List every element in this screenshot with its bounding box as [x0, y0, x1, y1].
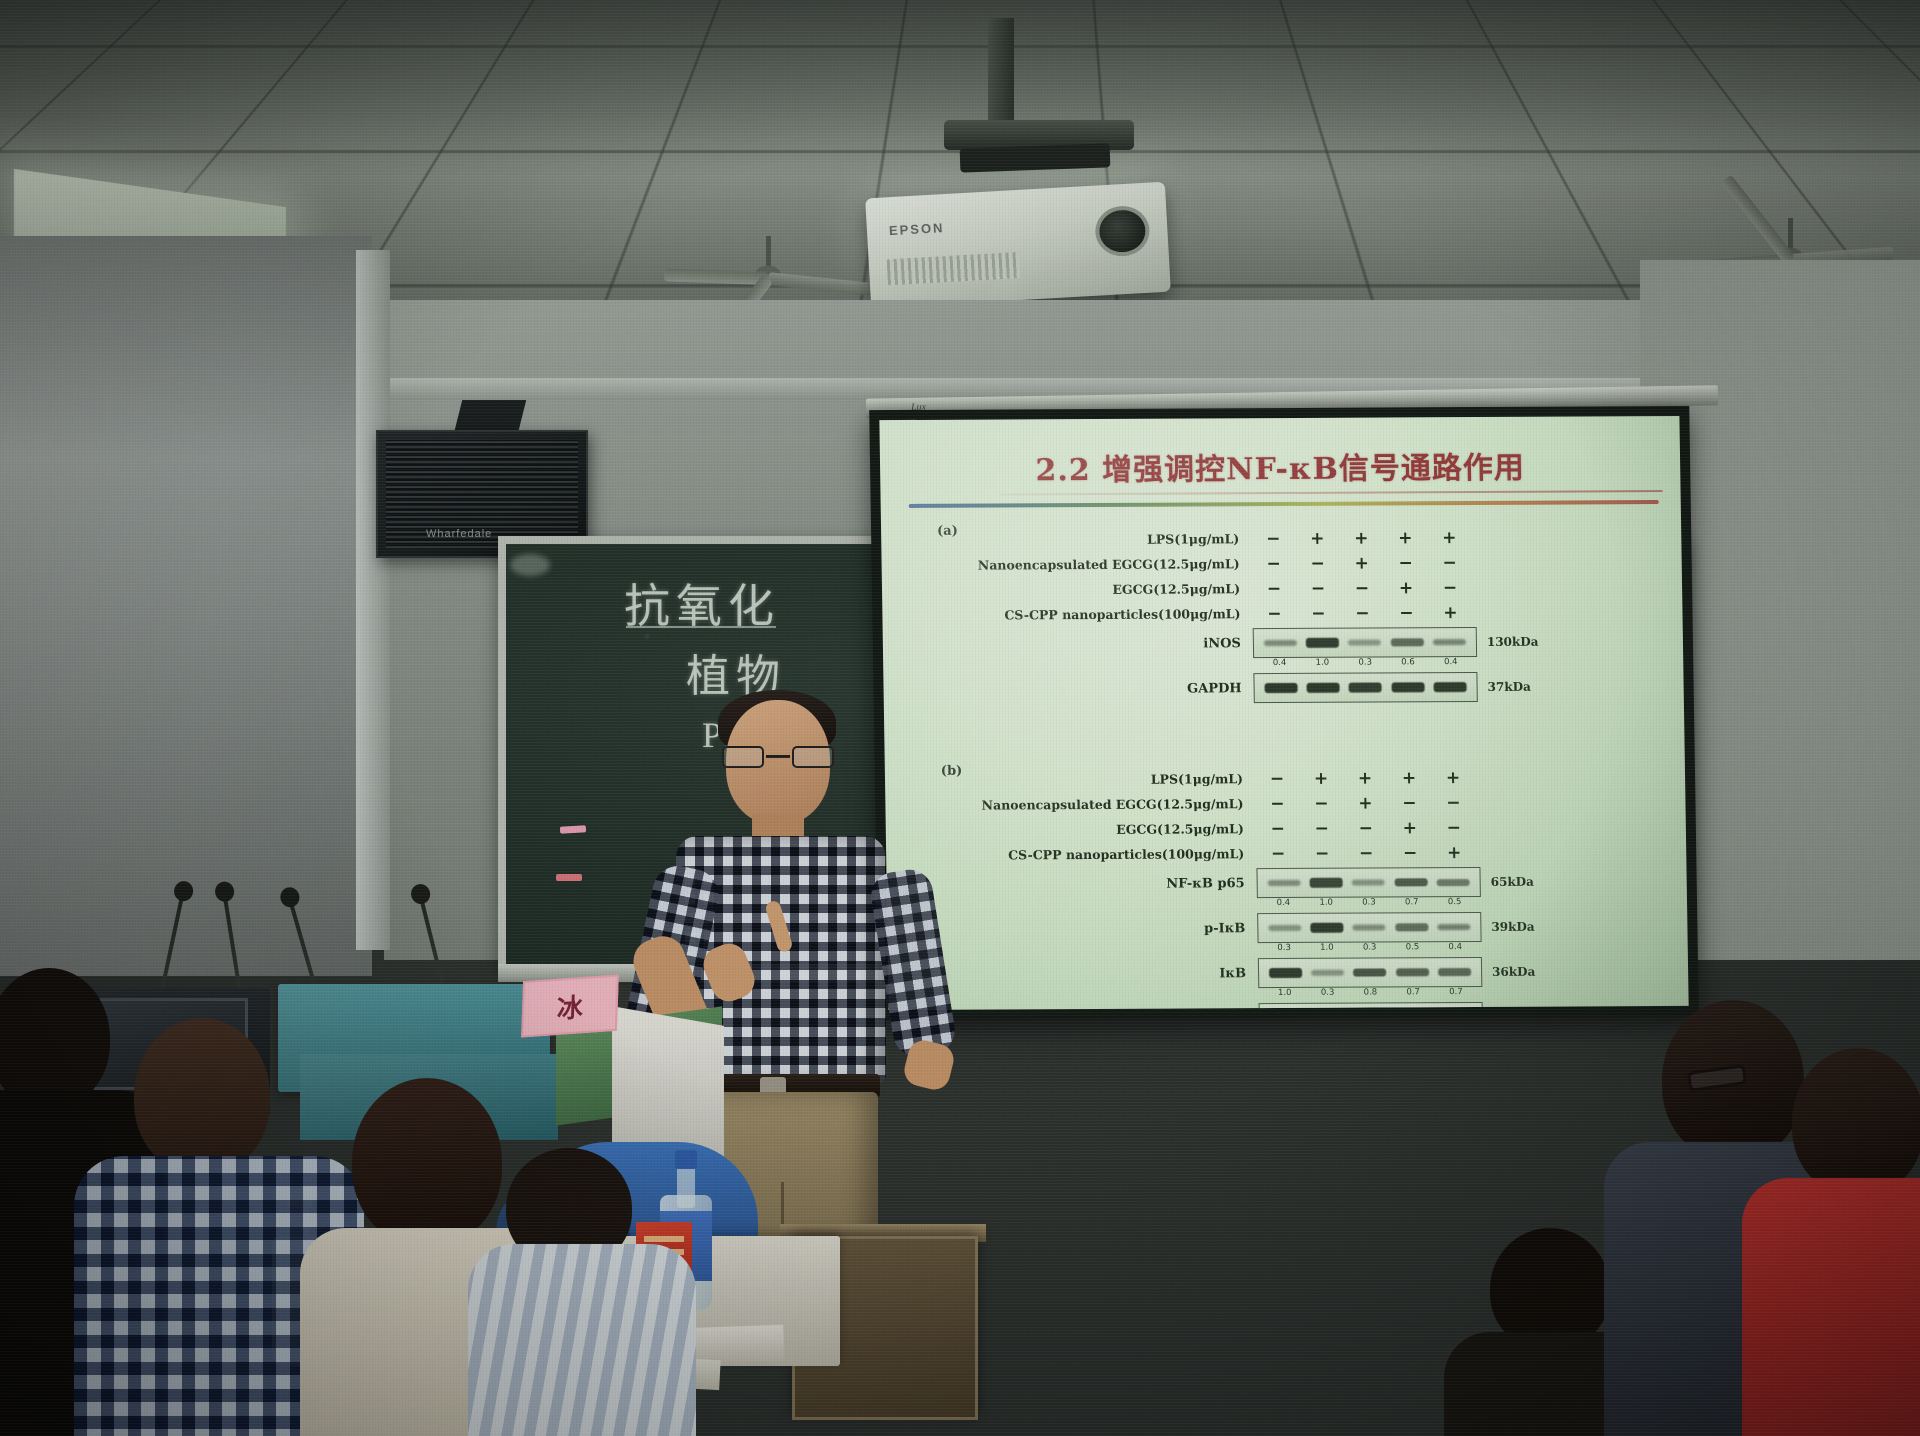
densitometry-value: 0.3	[1349, 657, 1382, 670]
condition-mark: −	[1255, 768, 1299, 788]
condition-mark: +	[1427, 528, 1471, 548]
condition-label: Nanoencapsulated EGCG(12.5μg/mL)	[882, 556, 1252, 573]
condition-mark: −	[1252, 578, 1296, 598]
condition-mark: −	[1296, 603, 1340, 623]
condition-mark: −	[1256, 843, 1300, 863]
projector-ceiling-mount	[988, 18, 1014, 122]
blot-band	[1269, 968, 1302, 978]
audience-head	[134, 1018, 270, 1174]
blot-band	[1310, 878, 1343, 888]
condition-marks: −−−−+	[1256, 842, 1476, 863]
densitometry-value: 0.7	[1395, 897, 1428, 910]
condition-mark: −	[1344, 818, 1388, 838]
densitometry-value: 0.4	[1434, 657, 1467, 670]
condition-mark: −	[1251, 553, 1295, 573]
densitometry-row: 0.41.00.30.70.5	[1257, 897, 1481, 911]
condition-marks: −++++	[1255, 767, 1475, 788]
projection-screen-border: 2.2 增强调控NF-κB信号通路作用 (a) LPS(1μg/mL)−++++…	[869, 406, 1699, 1020]
blot-molecular-weight: 65kDa	[1481, 875, 1534, 889]
condition-row: CS-CPP nanoparticles(100μg/mL)−−−−+	[886, 839, 1686, 868]
panel-a-blots: iNOS130kDa0.41.00.30.60.4GAPDH37kDa	[883, 626, 1684, 705]
condition-mark: +	[1387, 768, 1431, 788]
condition-mark: −	[1255, 793, 1299, 813]
densitometry-value: 0.3	[1311, 988, 1344, 1001]
condition-mark: −	[1251, 528, 1295, 548]
blot-band	[1306, 638, 1339, 648]
blot-row: iNOS130kDa	[883, 626, 1684, 660]
audience-torso	[468, 1244, 696, 1436]
fan-blade	[767, 272, 872, 296]
condition-mark: −	[1256, 818, 1300, 838]
densitometry-value: 0.4	[1267, 898, 1300, 911]
chalk-stick	[560, 825, 586, 833]
fan-blade	[664, 268, 768, 285]
slide-title: 2.2 增强调控NF-κB信号通路作用	[880, 442, 1681, 490]
pink-sign: 冰	[521, 975, 619, 1038]
densitometry-value: 0.3	[1353, 942, 1386, 955]
condition-mark: +	[1343, 793, 1387, 813]
blot-name: p-IκB	[887, 921, 1257, 938]
blot-band	[1434, 682, 1467, 692]
condition-mark: +	[1339, 553, 1383, 573]
chalk-underline	[626, 626, 776, 628]
fan-rod	[1788, 218, 1793, 252]
condition-mark: −	[1428, 578, 1472, 598]
condition-mark: −	[1299, 793, 1343, 813]
blot-row: p-IκB39kDa	[887, 911, 1688, 945]
condition-mark: −	[1431, 792, 1475, 812]
condition-marks: −−+−−	[1255, 792, 1475, 813]
condition-mark: −	[1388, 843, 1432, 863]
condition-mark: −	[1300, 843, 1344, 863]
densitometry-value: 0.5	[1438, 897, 1471, 910]
densitometry-value: 0.6	[1391, 657, 1424, 670]
blot-lane-box	[1257, 912, 1481, 943]
blot-lane-box	[1253, 672, 1477, 703]
condition-mark: −	[1252, 603, 1296, 623]
densitometry-value: 1.0	[1310, 898, 1343, 911]
blot-lane-box	[1253, 627, 1477, 658]
slide-panel-b: (b) LPS(1μg/mL)−++++Nanoencapsulated EGC…	[885, 764, 1689, 1010]
blot-band	[1433, 639, 1466, 646]
condition-mark: −	[1296, 578, 1340, 598]
blot-band	[1396, 968, 1429, 976]
blot-band	[1391, 682, 1424, 692]
blot-lane-box	[1258, 957, 1482, 988]
blot-lane-box	[1259, 1002, 1483, 1010]
blot-band	[1307, 683, 1340, 693]
condition-row: CS-CPP nanoparticles(100μg/mL)−−−−+	[882, 599, 1682, 628]
densitometry-value: 0.5	[1396, 942, 1429, 955]
blot-band	[1264, 683, 1297, 693]
densitometry-value: 0.8	[1354, 987, 1387, 1000]
blot-band	[1353, 924, 1386, 930]
blot-band	[1395, 923, 1428, 931]
condition-label: EGCG(12.5μg/mL)	[886, 821, 1256, 838]
condition-marks: −−−+−	[1256, 817, 1476, 838]
blot-band	[1348, 640, 1381, 646]
blot-band	[1311, 970, 1344, 976]
panel-b-blots: NF-κB p6565kDa0.41.00.30.70.5p-IκB39kDa0…	[886, 866, 1688, 1010]
wall-left-shading	[0, 236, 372, 976]
fan-rod	[766, 236, 771, 270]
condition-label: EGCG(12.5μg/mL)	[882, 581, 1252, 598]
condition-mark: +	[1428, 603, 1472, 623]
densitometry-row: 1.00.30.80.70.7	[1258, 987, 1482, 1001]
condition-mark: −	[1387, 793, 1431, 813]
condition-label: CS-CPP nanoparticles(100μg/mL)	[882, 606, 1252, 623]
blot-molecular-weight: 37kDa	[1478, 680, 1531, 694]
blot-band	[1438, 968, 1471, 976]
condition-mark: −	[1428, 553, 1472, 573]
densitometry-value: 0.7	[1439, 987, 1472, 1000]
densitometry-value: 1.0	[1310, 943, 1343, 956]
condition-mark: +	[1299, 768, 1343, 788]
blot-row: GAPDH37kDa	[883, 671, 1684, 705]
bottle-neck	[677, 1166, 696, 1208]
blot-molecular-weight: 36kDa	[1482, 965, 1535, 979]
blot-molecular-weight: 39kDa	[1481, 920, 1534, 934]
blot-row: NF-κB p6565kDa	[886, 866, 1687, 900]
blot-row: IκB36kDa	[888, 956, 1689, 990]
blot-row: GAPDH37kDa	[889, 1001, 1689, 1010]
wall-column	[356, 250, 390, 950]
condition-marks: −−+−−	[1251, 553, 1471, 574]
panel-a-tag: (a)	[937, 524, 958, 539]
condition-mark: −	[1344, 843, 1388, 863]
densitometry-row: 0.41.00.30.60.4	[1253, 657, 1477, 671]
blot-band	[1437, 879, 1470, 886]
blot-band	[1310, 923, 1343, 933]
condition-marks: −−−−+	[1252, 603, 1472, 624]
speaker-brand-label: Wharfedale	[426, 528, 492, 540]
audience-head	[1792, 1048, 1920, 1196]
condition-mark: −	[1383, 553, 1427, 573]
audience-torso	[1742, 1178, 1920, 1436]
blot-lane-box	[1256, 867, 1480, 898]
condition-mark: −	[1340, 603, 1384, 623]
slide-title-rule	[909, 500, 1659, 508]
blot-band	[1267, 880, 1300, 886]
condition-mark: +	[1295, 528, 1339, 548]
chalk-stick	[556, 874, 582, 881]
blot-molecular-weight: 130kDa	[1477, 635, 1539, 649]
densitometry-value: 0.4	[1263, 658, 1296, 671]
condition-marks: −++++	[1251, 528, 1471, 549]
audience-member-7	[1762, 1048, 1920, 1436]
condition-mark: +	[1383, 528, 1427, 548]
blot-band	[1349, 683, 1382, 693]
blot-band	[1352, 880, 1385, 886]
blot-band	[1394, 878, 1427, 887]
chalk-smudge	[510, 554, 550, 576]
panel-a-conditions: LPS(1μg/mL)−++++Nanoencapsulated EGCG(12…	[881, 524, 1683, 628]
densitometry-row: 0.31.00.30.50.4	[1258, 942, 1482, 956]
condition-label: CS-CPP nanoparticles(100μg/mL)	[886, 846, 1256, 863]
densitometry-value: 1.0	[1268, 988, 1301, 1001]
slide-title-rule-thin	[1001, 490, 1663, 495]
panel-b-tag: (b)	[941, 764, 963, 779]
condition-mark: +	[1432, 842, 1476, 862]
blot-name: NF-κB p65	[887, 876, 1257, 893]
condition-mark: −	[1340, 578, 1384, 598]
condition-mark: +	[1388, 818, 1432, 838]
condition-label: Nanoencapsulated EGCG(12.5μg/mL)	[885, 796, 1255, 813]
densitometry-value: 1.0	[1306, 658, 1339, 671]
densitometry-value: 0.4	[1439, 942, 1472, 955]
panel-b-conditions: LPS(1μg/mL)−++++Nanoencapsulated EGCG(12…	[885, 764, 1687, 868]
condition-mark: +	[1384, 578, 1428, 598]
blot-band	[1391, 638, 1424, 646]
condition-mark: −	[1300, 818, 1344, 838]
slide-panel-a: (a) LPS(1μg/mL)−++++Nanoencapsulated EGC…	[881, 524, 1684, 705]
blot-band	[1438, 924, 1471, 931]
densitometry-value: 0.3	[1268, 943, 1301, 956]
blot-band	[1264, 640, 1297, 646]
condition-marks: −−−+−	[1252, 578, 1472, 599]
blot-band	[1353, 968, 1386, 977]
condition-mark: −	[1432, 817, 1476, 837]
projection-screen: 2.2 增强调控NF-κB信号通路作用 (a) LPS(1μg/mL)−++++…	[879, 416, 1688, 1010]
presenter-glasses	[722, 746, 834, 770]
densitometry-value: 0.3	[1352, 897, 1385, 910]
projector-brand-label: EPSON	[889, 220, 945, 238]
condition-mark: +	[1343, 768, 1387, 788]
condition-mark: +	[1431, 767, 1475, 787]
condition-mark: −	[1295, 553, 1339, 573]
blot-band	[1268, 925, 1301, 931]
condition-mark: +	[1339, 528, 1383, 548]
blot-name: iNOS	[883, 636, 1253, 653]
audience-member-4	[478, 1148, 678, 1436]
lecture-hall-photo: EPSON Wharfedale 抗氧化 植物 PPO Lux 2.2 增强调控…	[0, 0, 1920, 1436]
speaker-bracket	[454, 400, 526, 434]
condition-mark: −	[1384, 603, 1428, 623]
densitometry-value: 0.7	[1397, 987, 1430, 1000]
projector-lens	[1094, 205, 1151, 258]
